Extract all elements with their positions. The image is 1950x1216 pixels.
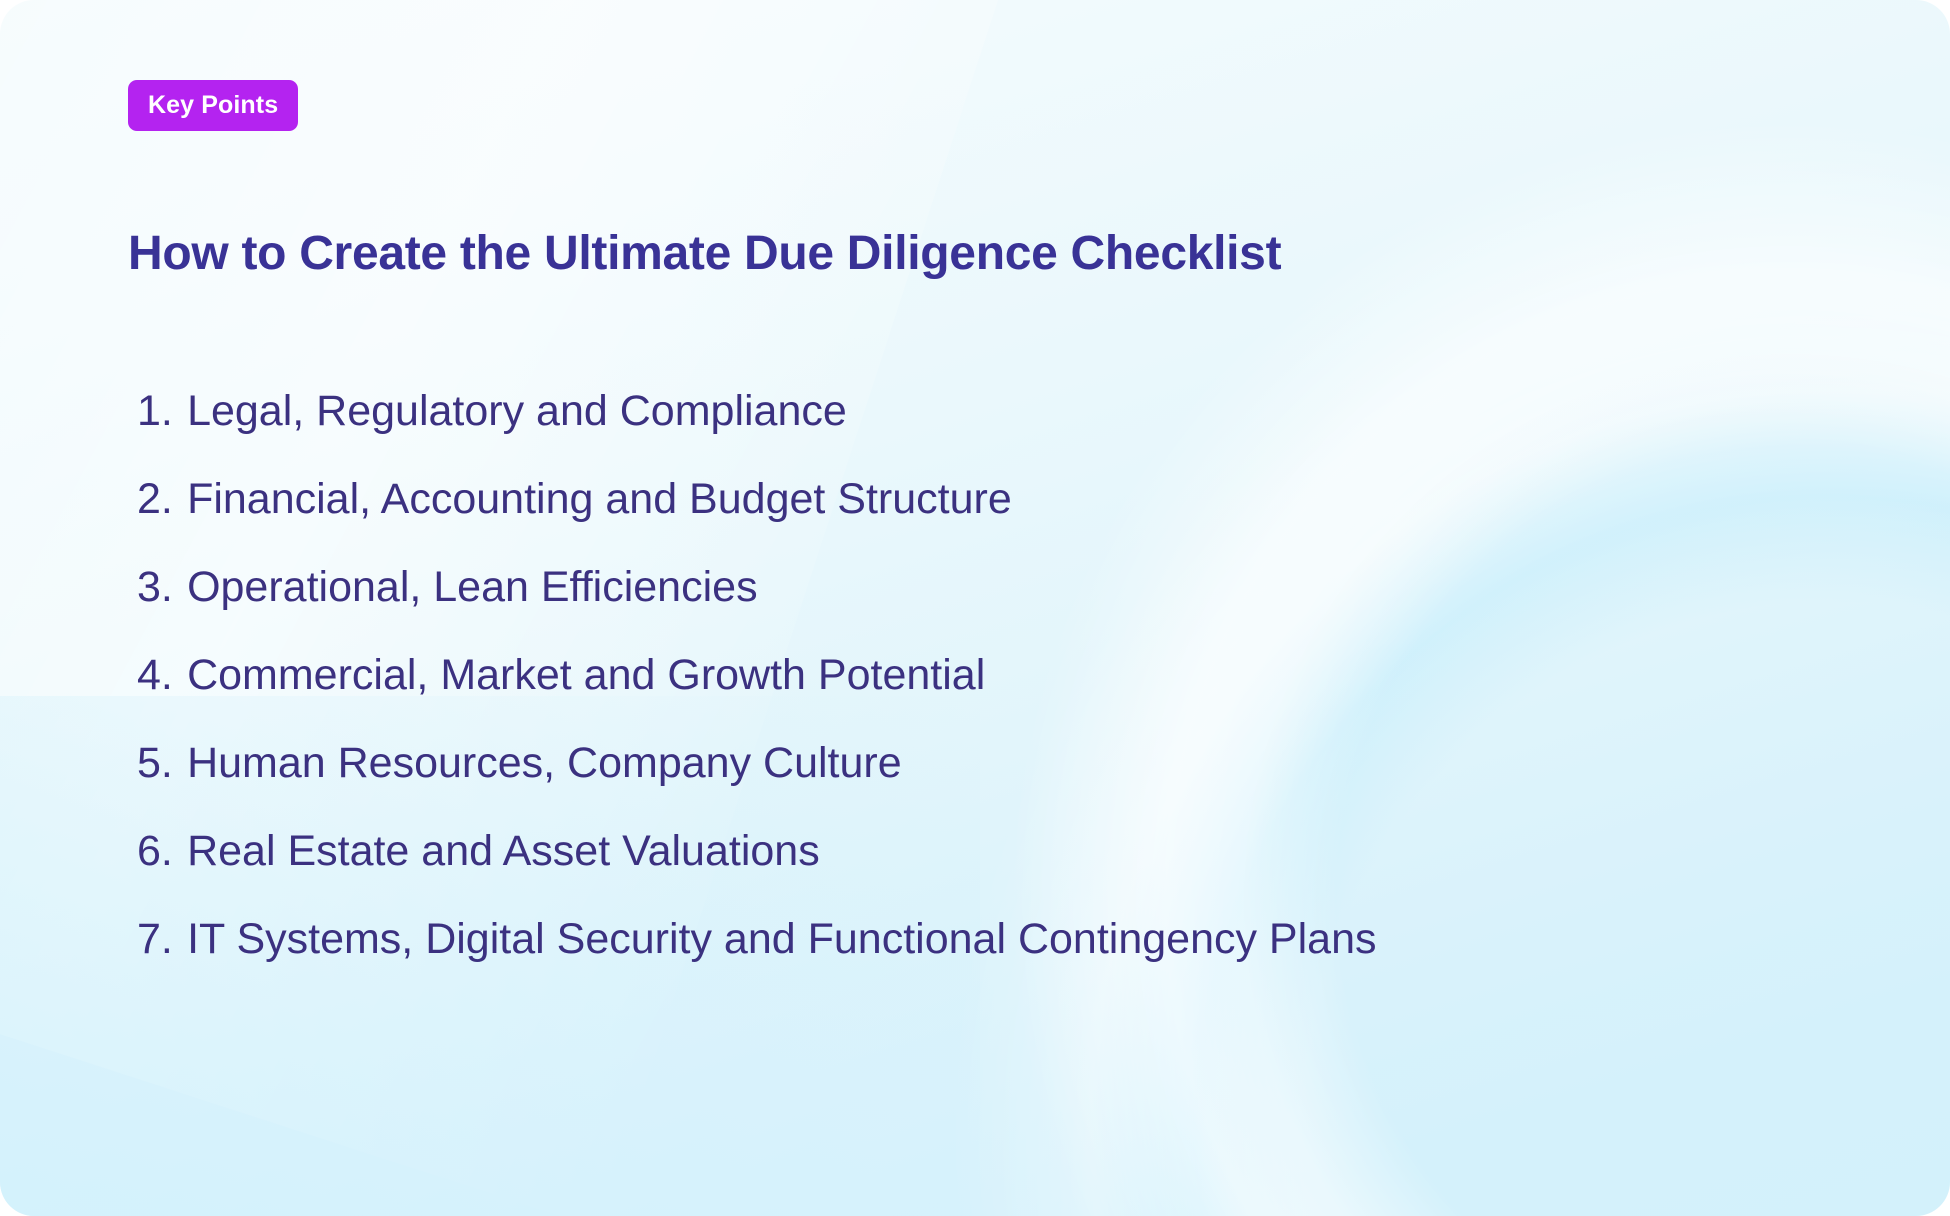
page-title: How to Create the Ultimate Due Diligence… [128, 228, 1281, 281]
key-points-badge: Key Points [128, 80, 298, 131]
list-item: 2.Financial, Accounting and Budget Struc… [137, 478, 1377, 521]
list-item: 5.Human Resources, Company Culture [137, 742, 1377, 785]
list-item-label: Financial, Accounting and Budget Structu… [187, 475, 1012, 523]
checklist: 1.Legal, Regulatory and Compliance 2.Fin… [137, 390, 1377, 961]
list-item: 1.Legal, Regulatory and Compliance [137, 390, 1377, 433]
list-item-label: Legal, Regulatory and Compliance [187, 387, 847, 435]
list-item-number: 5. [137, 739, 173, 787]
list-item-number: 1. [137, 387, 173, 435]
list-item-number: 6. [137, 827, 173, 875]
list-item-number: 4. [137, 651, 173, 699]
list-item-number: 2. [137, 475, 173, 523]
list-item-label: Human Resources, Company Culture [187, 739, 902, 787]
list-item: 3.Operational, Lean Efficiencies [137, 566, 1377, 609]
key-points-card: Key Points How to Create the Ultimate Du… [0, 0, 1950, 1216]
list-item: 6.Real Estate and Asset Valuations [137, 830, 1377, 873]
list-item-label: Real Estate and Asset Valuations [187, 827, 820, 875]
list-item-label: Operational, Lean Efficiencies [187, 563, 758, 611]
list-item: 7.IT Systems, Digital Security and Funct… [137, 918, 1377, 961]
list-item-number: 3. [137, 563, 173, 611]
list-item-label: IT Systems, Digital Security and Functio… [187, 915, 1376, 963]
list-item: 4.Commercial, Market and Growth Potentia… [137, 654, 1377, 697]
key-points-badge-label: Key Points [148, 93, 278, 118]
list-item-label: Commercial, Market and Growth Potential [187, 651, 985, 699]
list-item-number: 7. [137, 915, 173, 963]
